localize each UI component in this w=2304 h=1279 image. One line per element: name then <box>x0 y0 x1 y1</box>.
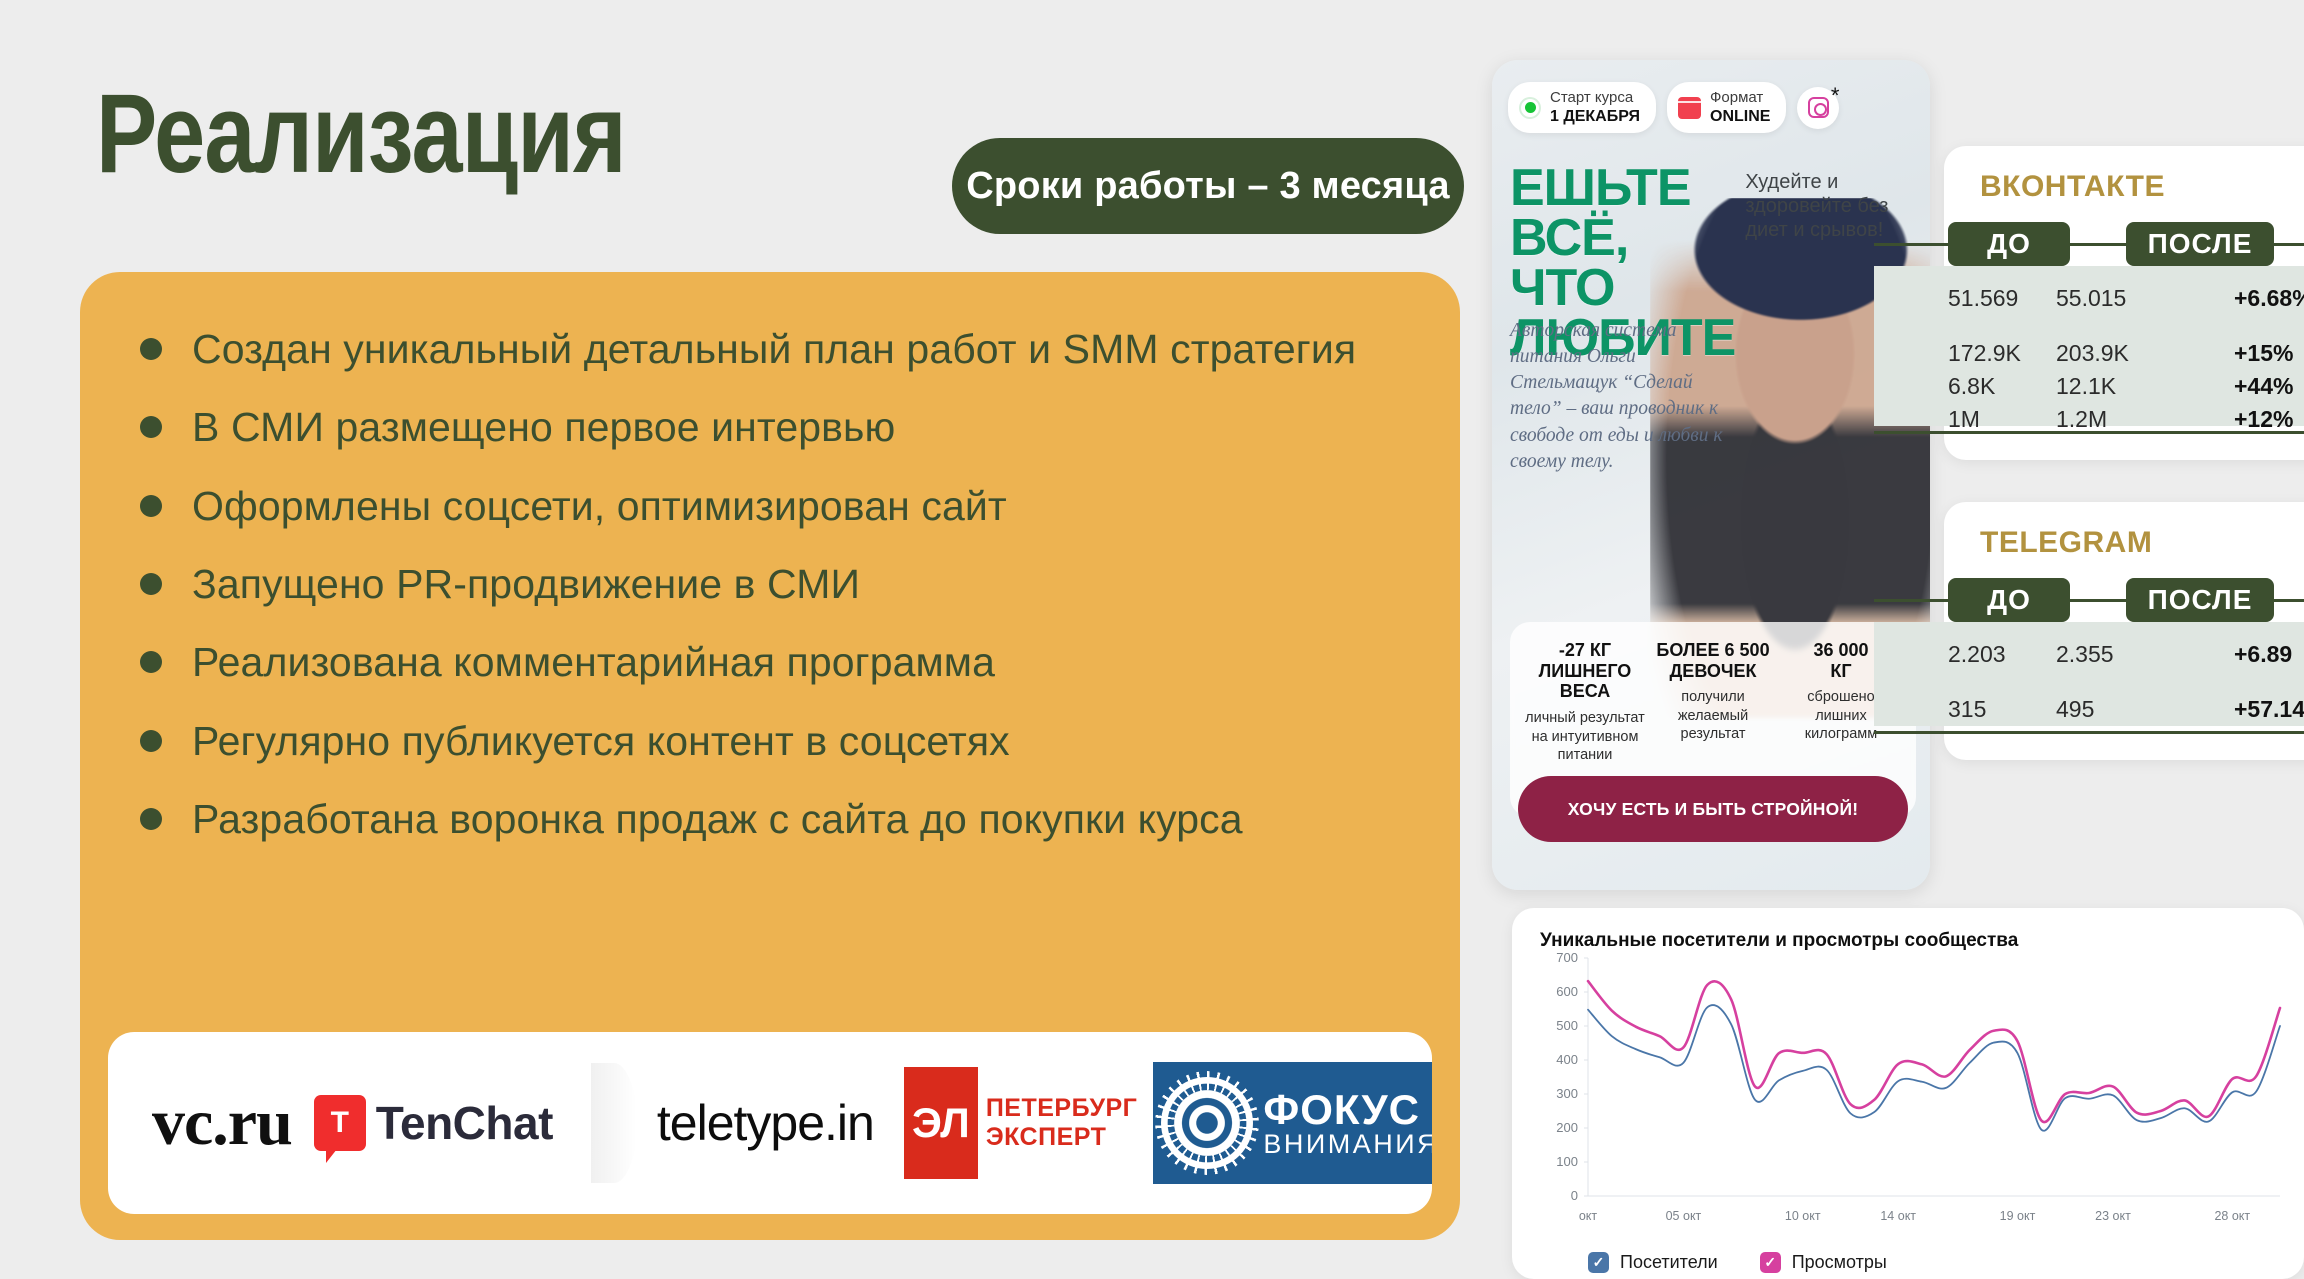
table-row: 51.56955.015+6.68% <box>1874 282 2304 315</box>
table-cell-delta: +6.68% <box>2234 285 2304 312</box>
instagram-icon <box>1808 97 1829 118</box>
mockup-description: Авторская система питания Ольги Стельмащ… <box>1510 318 1742 475</box>
bullet-dot-icon <box>140 573 162 595</box>
slide-root: Реализация Сроки работы – 3 месяца Созда… <box>0 0 2304 1279</box>
table-cell-after: 1.2M <box>2056 406 2234 433</box>
list-item: Создан уникальный детальный план работ и… <box>140 318 1420 380</box>
badge-format-value: ONLINE <box>1710 107 1770 126</box>
table-cell-after: 55.015 <box>2056 285 2234 312</box>
table-cell-after: 203.9K <box>2056 340 2234 367</box>
table-row: 2.2032.355+6.89 <box>1874 638 2304 671</box>
list-item: Запущено PR-продвижение в СМИ <box>140 553 1420 615</box>
table-cell-before: 172.9K <box>1874 340 2056 367</box>
svg-text:500: 500 <box>1556 1018 1578 1033</box>
telegram-stats-panel: TELEGRAM ДО ПОСЛЕ 2.2032.355+6.89315495+… <box>1944 502 2304 760</box>
green-dot-icon <box>1519 97 1541 119</box>
table-cell-delta: +44% <box>2234 373 2293 400</box>
table-row: 315495+57.14 <box>1874 693 2304 726</box>
logo-tenchat: T TenChat <box>314 1095 553 1151</box>
svg-text:600: 600 <box>1556 984 1578 999</box>
table-row: 172.9K203.9K+15% <box>1874 337 2304 370</box>
legend-item[interactable]: ✓Посетители <box>1588 1252 1718 1273</box>
table-cell-before: 2.203 <box>1874 641 2056 668</box>
table-row: 6.8K12.1K+44% <box>1874 370 2304 403</box>
bullet-dot-icon <box>140 338 162 360</box>
telegram-table-header: ДО ПОСЛЕ <box>1874 578 2304 622</box>
badge-format: Формат ONLINE <box>1667 82 1786 133</box>
mockup-stat: БОЛЕЕ 6 500 ДЕВОЧЕКполучили желаемый рез… <box>1652 640 1774 765</box>
fokus-line-2: ВНИМАНИЯ <box>1263 1131 1432 1158</box>
telegram-table-body: 2.2032.355+6.89315495+57.14 <box>1874 622 2304 726</box>
svg-text:10 окт: 10 окт <box>1785 1209 1821 1223</box>
list-item-label: Разработана воронка продаж с сайта до по… <box>192 788 1243 850</box>
list-item-label: Создан уникальный детальный план работ и… <box>192 318 1356 380</box>
svg-text:100: 100 <box>1556 1154 1578 1169</box>
list-item-label: Регулярно публикуется контент в соцсетях <box>192 710 1010 772</box>
badge-course-start-value: 1 ДЕКАБРЯ <box>1550 107 1640 126</box>
achievements-list: Создан уникальный детальный план работ и… <box>140 318 1420 866</box>
media-logos-strip: vc.ru T TenChat teletype.in ЭЛ ПЕТЕРБУРГ… <box>108 1032 1432 1214</box>
telegram-panel-title: TELEGRAM <box>1980 526 2152 560</box>
table-cell-before: 51.569 <box>1874 285 2056 312</box>
el-words: ПЕТЕРБУРГ ЭКСПЕРТ <box>986 1067 1138 1179</box>
vkontakte-stats-panel: ВКОНТАКТЕ ДО ПОСЛЕ 51.56955.015+6.68%172… <box>1944 146 2304 460</box>
logo-peterburg-expert: ЭЛ ПЕТЕРБУРГ ЭКСПЕРТ <box>904 1067 1138 1179</box>
list-item-label: Запущено PR-продвижение в СМИ <box>192 553 860 615</box>
logo-vcru: vc.ru <box>152 1085 314 1161</box>
footer-rule <box>1874 431 2304 434</box>
chart-plot: 0100200300400500600700окт05 окт10 окт14 … <box>1512 950 2304 1240</box>
badge-course-start: Старт курса 1 ДЕКАБРЯ <box>1508 82 1656 133</box>
svg-text:23 окт: 23 окт <box>2095 1209 2131 1223</box>
legend-label: Посетители <box>1620 1252 1718 1273</box>
landing-page-mockup: Старт курса 1 ДЕКАБРЯ Формат ONLINE * ЕШ… <box>1492 60 1930 890</box>
asterisk-mark: * <box>1831 85 1840 107</box>
list-item: Разработана воронка продаж с сайта до по… <box>140 788 1420 850</box>
mockup-badge-row: Старт курса 1 ДЕКАБРЯ Формат ONLINE * <box>1508 82 1918 133</box>
sun-spiral-icon <box>1161 1077 1253 1169</box>
checkbox-checked-icon[interactable]: ✓ <box>1760 1252 1781 1273</box>
legend-item[interactable]: ✓Просмотры <box>1760 1252 1887 1273</box>
bullet-dot-icon <box>140 651 162 673</box>
el-icon: ЭЛ <box>904 1067 978 1179</box>
mockup-stat-caption: получили желаемый результат <box>1652 688 1774 744</box>
list-item: Реализована комментарийная программа <box>140 631 1420 693</box>
chart-legend: ✓Посетители✓Просмотры <box>1588 1252 1887 1273</box>
logo-fokus-vnimaniya: ФОКУС ВНИМАНИЯ <box>1153 1062 1432 1184</box>
mockup-stat-value: БОЛЕЕ 6 500 ДЕВОЧЕК <box>1652 640 1774 681</box>
checkbox-checked-icon[interactable]: ✓ <box>1588 1252 1609 1273</box>
vkontakte-panel-title: ВКОНТАКТЕ <box>1980 170 2165 204</box>
bullet-dot-icon <box>140 416 162 438</box>
table-cell-after: 12.1K <box>2056 373 2234 400</box>
el-line-1: ПЕТЕРБУРГ <box>986 1094 1138 1124</box>
logo-tenchat-text: TenChat <box>376 1096 553 1150</box>
table-cell-after: 495 <box>2056 696 2234 723</box>
mockup-stat-value: -27 КГ ЛИШНЕГО ВЕСА <box>1524 640 1646 702</box>
bullet-dot-icon <box>140 808 162 830</box>
logo-vcru-text: vc.ru <box>152 1085 292 1161</box>
list-item-label: В СМИ размещено первое интервью <box>192 396 895 458</box>
mockup-stat: -27 КГ ЛИШНЕГО ВЕСАличный результат на и… <box>1524 640 1646 765</box>
table-cell-before: 1M <box>1874 406 2056 433</box>
table-cell-delta: +12% <box>2234 406 2293 433</box>
tg-column-after: ПОСЛЕ <box>2126 578 2274 622</box>
mockup-cta-button[interactable]: ХОЧУ ЕСТЬ И БЫТЬ СТРОЙНОЙ! <box>1518 776 1908 842</box>
el-line-2: ЭКСПЕРТ <box>986 1123 1138 1153</box>
table-cell-delta: +15% <box>2234 340 2293 367</box>
list-item-label: Оформлены соцсети, оптимизирован сайт <box>192 475 1007 537</box>
table-cell-delta: +6.89 <box>2234 641 2292 668</box>
vk-column-after: ПОСЛЕ <box>2126 222 2274 266</box>
footer-rule <box>1874 731 2304 734</box>
vkontakte-table-body: 51.56955.015+6.68%172.9K203.9K+15%6.8K12… <box>1874 266 2304 426</box>
logo-teletype-text: teletype.in <box>657 1094 874 1152</box>
fokus-line-1: ФОКУС <box>1263 1089 1432 1131</box>
page-title: Реализация <box>96 78 626 190</box>
list-item-label: Реализована комментарийная программа <box>192 631 995 693</box>
legend-label: Просмотры <box>1792 1252 1887 1273</box>
list-item: В СМИ размещено первое интервью <box>140 396 1420 458</box>
table-cell-after: 2.355 <box>2056 641 2234 668</box>
analytics-chart-card: Уникальные посетители и просмотры сообще… <box>1512 908 2304 1279</box>
svg-text:28 окт: 28 окт <box>2214 1209 2250 1223</box>
fokus-words: ФОКУС ВНИМАНИЯ <box>1263 1089 1432 1158</box>
list-item: Регулярно публикуется контент в соцсетях <box>140 710 1420 772</box>
tg-column-before: ДО <box>1948 578 2070 622</box>
svg-text:19 окт: 19 окт <box>2000 1209 2036 1223</box>
badge-format-label: Формат <box>1710 89 1770 107</box>
tenchat-icon: T <box>314 1095 366 1151</box>
table-cell-before: 315 <box>1874 696 2056 723</box>
bullet-dot-icon <box>140 730 162 752</box>
table-cell-before: 6.8K <box>1874 373 2056 400</box>
badge-course-start-label: Старт курса <box>1550 89 1640 107</box>
vkontakte-table-header: ДО ПОСЛЕ <box>1874 222 2304 266</box>
deadline-badge: Сроки работы – 3 месяца <box>952 138 1464 234</box>
svg-text:окт: окт <box>1579 1209 1598 1223</box>
instagram-button[interactable]: * <box>1797 87 1839 129</box>
svg-text:0: 0 <box>1571 1188 1578 1203</box>
svg-text:14 окт: 14 окт <box>1880 1209 1916 1223</box>
list-item: Оформлены соцсети, оптимизирован сайт <box>140 475 1420 537</box>
logo-teletype: teletype.in <box>645 1094 904 1152</box>
table-cell-delta: +57.14 <box>2234 696 2304 723</box>
calendar-icon <box>1678 97 1701 119</box>
svg-text:200: 200 <box>1556 1120 1578 1135</box>
logo-divider <box>591 1063 637 1183</box>
svg-text:400: 400 <box>1556 1052 1578 1067</box>
svg-text:700: 700 <box>1556 950 1578 965</box>
achievements-card: Создан уникальный детальный план работ и… <box>80 272 1460 1240</box>
mockup-stat-caption: личный результат на интуитивном питании <box>1524 709 1646 765</box>
vk-column-before: ДО <box>1948 222 2070 266</box>
svg-text:300: 300 <box>1556 1086 1578 1101</box>
bullet-dot-icon <box>140 495 162 517</box>
chart-title: Уникальные посетители и просмотры сообще… <box>1540 930 2018 952</box>
svg-text:05 окт: 05 окт <box>1666 1209 1702 1223</box>
